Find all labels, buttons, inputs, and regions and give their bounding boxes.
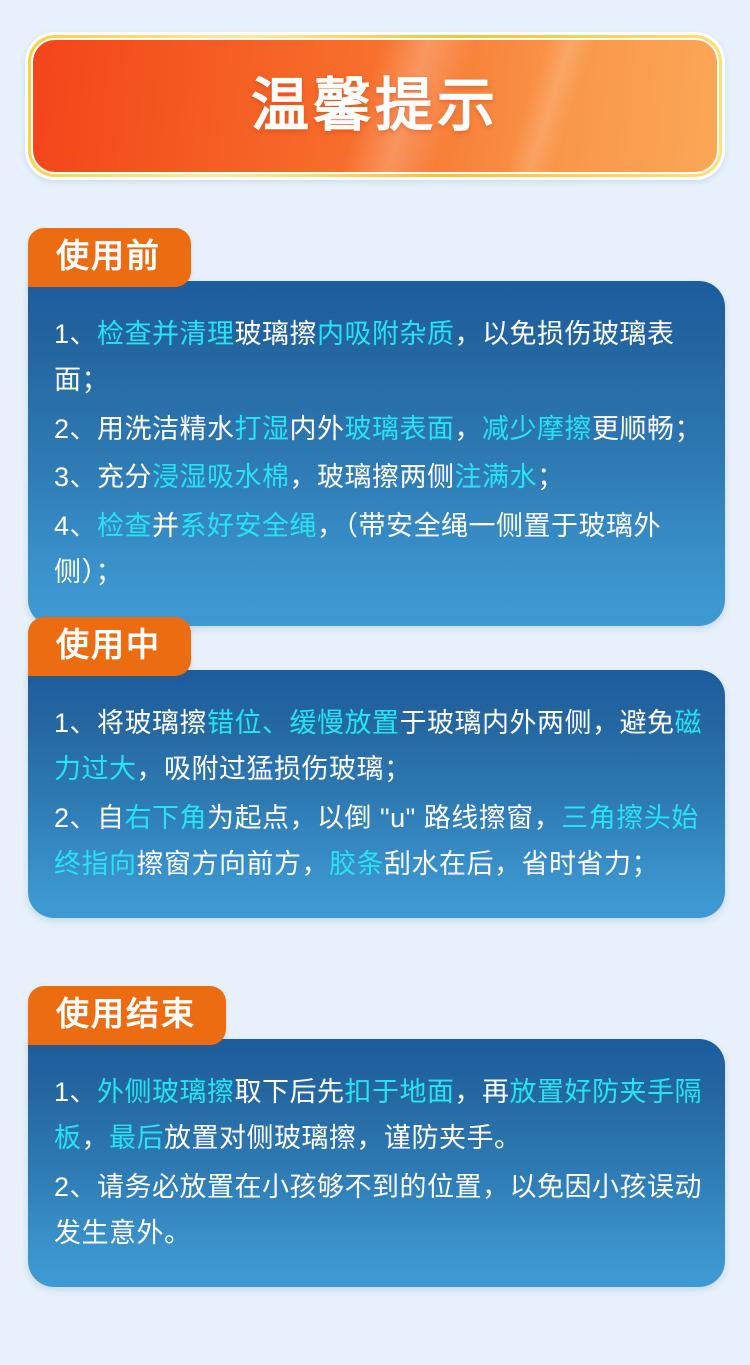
section-after-use: 使用结束 1、外侧玻璃擦取下后先扣于地面，再放置好防夹手隔板，最后放置对侧玻璃擦…: [28, 986, 725, 1287]
instruction-highlight-text: 注满水: [455, 462, 538, 492]
section-tab-after-use: 使用结束: [28, 986, 226, 1045]
instruction-highlight-text: 系好安全绳: [180, 511, 318, 541]
instruction-highlight-text: 胶条: [329, 849, 384, 879]
instruction-item-number: 3、: [54, 462, 97, 492]
instruction-item: 1、外侧玻璃擦取下后先扣于地面，再放置好防夹手隔板，最后放置对侧玻璃擦，谨防夹手…: [54, 1069, 703, 1162]
instruction-text: 更顺畅；: [592, 414, 702, 444]
instruction-item-number: 2、: [54, 1172, 97, 1202]
instruction-text: 取下后先: [235, 1077, 345, 1107]
instruction-highlight-text: 放置好: [510, 1077, 593, 1107]
instruction-list-after-use: 1、外侧玻璃擦取下后先扣于地面，再放置好防夹手隔板，最后放置对侧玻璃擦，谨防夹手…: [54, 1069, 703, 1257]
instruction-list-during-use: 1、将玻璃擦错位、缓慢放置于玻璃内外两侧，避免磁力过大，吸附过猛损伤玻璃；2、自…: [54, 700, 703, 888]
instruction-item: 1、检查并清理玻璃擦内吸附杂质，以免损伤玻璃表面；: [54, 311, 703, 404]
instruction-text: ，吸附过猛损伤玻璃；: [137, 754, 412, 784]
instruction-text: 放置对侧玻璃擦，谨防夹手。: [164, 1123, 522, 1153]
instruction-highlight-text: 扣于地面: [345, 1077, 455, 1107]
instruction-highlight-text: 检查: [97, 511, 152, 541]
section-during-use: 使用中 1、将玻璃擦错位、缓慢放置于玻璃内外两侧，避免磁力过大，吸附过猛损伤玻璃…: [28, 617, 725, 918]
instruction-text: ，: [82, 1123, 110, 1153]
instruction-item: 2、请务必放置在小孩够不到的位置，以免因小孩误动发生意外。: [54, 1164, 703, 1257]
instruction-highlight-text: 外侧玻璃擦: [97, 1077, 235, 1107]
section-tab-during-use: 使用中: [28, 617, 191, 676]
section-card-after-use: 1、外侧玻璃擦取下后先扣于地面，再放置好防夹手隔板，最后放置对侧玻璃擦，谨防夹手…: [28, 1039, 725, 1287]
instruction-highlight-text: 最后: [109, 1123, 164, 1153]
instruction-list-before-use: 1、检查并清理玻璃擦内吸附杂质，以免损伤玻璃表面；2、用洗洁精水打湿内外玻璃表面…: [54, 311, 703, 596]
instruction-highlight-text: 玻璃表面: [345, 414, 455, 444]
banner-surface: 温馨提示: [33, 40, 717, 172]
instruction-text: 充分: [97, 462, 152, 492]
instruction-highlight-text: 减少摩擦: [482, 414, 592, 444]
instruction-text: 将玻璃擦: [97, 708, 207, 738]
instruction-text: ，玻璃擦两侧: [290, 462, 455, 492]
instruction-text: 于玻璃内外两侧，避免: [400, 708, 675, 738]
instruction-item-number: 2、: [54, 803, 97, 833]
banner-gold-border: 温馨提示: [28, 35, 722, 177]
section-tab-before-use: 使用前: [28, 228, 191, 287]
instruction-item-number: 4、: [54, 511, 97, 541]
instruction-text: 并: [152, 511, 180, 541]
section-before-use: 使用前 1、检查并清理玻璃擦内吸附杂质，以免损伤玻璃表面；2、用洗洁精水打湿内外…: [28, 228, 725, 626]
instruction-text: ，再: [455, 1077, 510, 1107]
instruction-highlight-text: 右下角: [125, 803, 208, 833]
instruction-text: 玻璃擦: [235, 319, 318, 349]
instruction-item-number: 1、: [54, 708, 97, 738]
instruction-item: 2、自右下角为起点，以倒 "u" 路线擦窗，三角擦头始终指向擦窗方向前方，胶条刮…: [54, 795, 703, 888]
instruction-item: 1、将玻璃擦错位、缓慢放置于玻璃内外两侧，避免磁力过大，吸附过猛损伤玻璃；: [54, 700, 703, 793]
instruction-text: 内外: [290, 414, 345, 444]
instruction-text: 擦窗方向前方，: [137, 849, 330, 879]
instruction-text: 刮水在后，省时省力；: [384, 849, 659, 879]
instruction-item-number: 2、: [54, 414, 97, 444]
instruction-item: 4、检查并系好安全绳，（带安全绳一侧置于玻璃外侧）；: [54, 503, 703, 596]
instruction-highlight-text: 检查并清理: [97, 319, 235, 349]
section-card-before-use: 1、检查并清理玻璃擦内吸附杂质，以免损伤玻璃表面；2、用洗洁精水打湿内外玻璃表面…: [28, 281, 725, 626]
page-title: 温馨提示: [251, 77, 499, 135]
banner-white-border: 温馨提示: [31, 38, 719, 174]
instruction-highlight-text: 内吸附杂质: [317, 319, 455, 349]
section-card-during-use: 1、将玻璃擦错位、缓慢放置于玻璃内外两侧，避免磁力过大，吸附过猛损伤玻璃；2、自…: [28, 670, 725, 918]
instruction-text: ，: [455, 414, 483, 444]
instruction-highlight-text: 错位、缓慢放置: [207, 708, 400, 738]
instruction-item: 3、充分浸湿吸水棉，玻璃擦两侧注满水；: [54, 454, 703, 500]
title-banner: 温馨提示: [25, 32, 725, 180]
instruction-item-number: 1、: [54, 1077, 97, 1107]
instruction-text: 自: [97, 803, 125, 833]
instruction-text: 请务必放置在小孩够不到的位置，以免因小孩误动发生意外。: [54, 1172, 702, 1248]
instruction-item-number: 1、: [54, 319, 97, 349]
banner-sheen-secondary-icon: [488, 40, 609, 172]
instruction-item: 2、用洗洁精水打湿内外玻璃表面，减少摩擦更顺畅；: [54, 406, 703, 452]
instruction-highlight-text: 浸湿吸水棉: [152, 462, 290, 492]
instruction-text: ；: [537, 462, 565, 492]
instruction-highlight-text: 打湿: [235, 414, 290, 444]
instruction-text: 用洗洁精水: [97, 414, 235, 444]
instruction-text: 为起点，以倒 "u" 路线擦窗，: [207, 803, 561, 833]
